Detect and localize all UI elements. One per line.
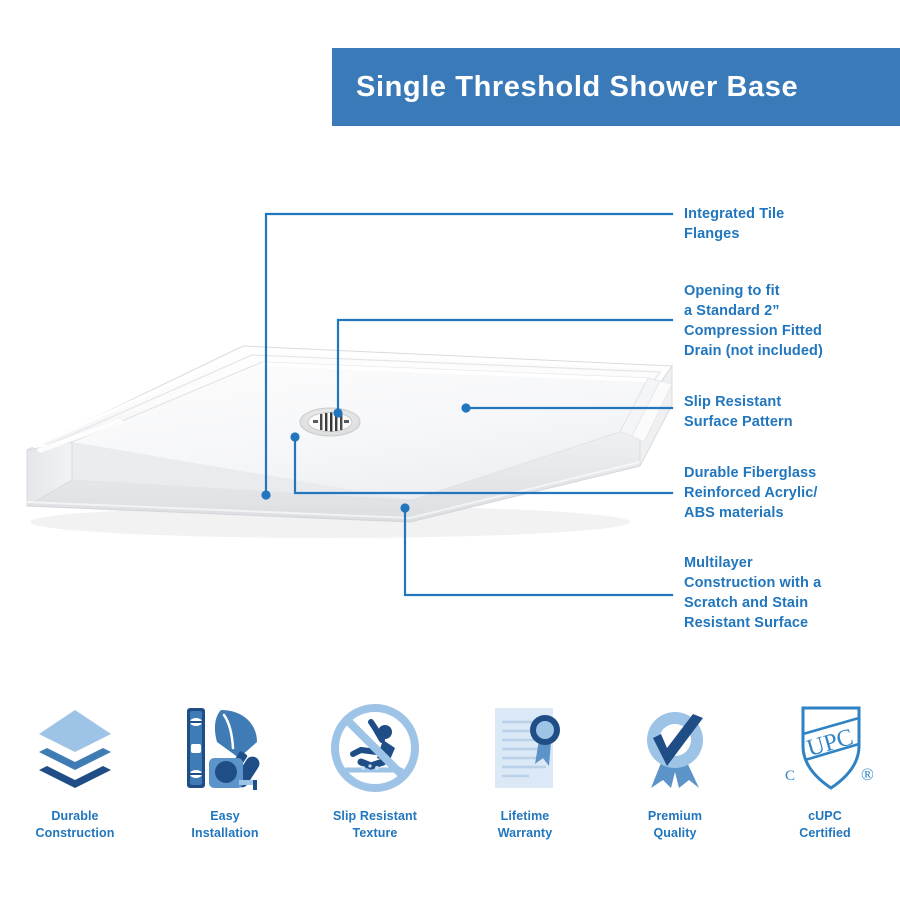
certificate-icon: [477, 700, 573, 796]
dot-opening-drain: [333, 408, 342, 417]
layers-icon: [27, 700, 123, 796]
callout-line: Slip Resistant: [684, 392, 793, 412]
feature-label: Premium Quality: [648, 808, 702, 841]
shield-left-mark: C: [785, 768, 795, 784]
feature-durable-construction: Durable Construction: [0, 700, 150, 875]
callout-multilayer-construction: Multilayer Construction with a Scratch a…: [684, 553, 821, 633]
no-slip-icon: [327, 700, 423, 796]
dot-slip-resistant: [461, 403, 470, 412]
feature-label: cUPC Certified: [799, 808, 851, 841]
header-banner: Single Threshold Shower Base: [332, 48, 900, 126]
feature-slip-resistant-texture: Slip Resistant Texture: [300, 700, 450, 875]
callout-line: Durable Fiberglass: [684, 463, 818, 483]
feature-label: Easy Installation: [191, 808, 258, 841]
feature-label: Slip Resistant Texture: [333, 808, 417, 841]
check-ribbon-icon: [627, 700, 723, 796]
callout-line: Opening to fit: [684, 281, 823, 301]
callout-line: Flanges: [684, 224, 784, 244]
feature-easy-installation: Easy Installation: [150, 700, 300, 875]
dot-durable-fiberglass: [290, 432, 299, 441]
callout-line: Resistant Surface: [684, 613, 821, 633]
page-title: Single Threshold Shower Base: [332, 71, 798, 104]
callout-line: Compression Fitted: [684, 321, 823, 341]
callout-slip-resistant: Slip Resistant Surface Pattern: [684, 392, 793, 432]
feature-label: Lifetime Warranty: [498, 808, 553, 841]
feature-cupc-certified: UPC C ® cUPC Certified: [750, 700, 900, 875]
dot-multilayer: [400, 503, 409, 512]
callout-line: a Standard 2”: [684, 301, 823, 321]
callout-integrated-tile-flanges: Integrated Tile Flanges: [684, 204, 784, 244]
callout-line: Surface Pattern: [684, 412, 793, 432]
callout-opening-drain: Opening to fit a Standard 2” Compression…: [684, 281, 823, 361]
feature-premium-quality: Premium Quality: [600, 700, 750, 875]
callout-line: Construction with a: [684, 573, 821, 593]
feature-label: Durable Construction: [36, 808, 115, 841]
level-trowel-icon: [177, 700, 273, 796]
callout-line: Multilayer: [684, 553, 821, 573]
callout-line: Scratch and Stain: [684, 593, 821, 613]
feature-lifetime-warranty: Lifetime Warranty: [450, 700, 600, 875]
infographic-page: Single Threshold Shower Base: [0, 0, 900, 900]
callout-durable-fiberglass: Durable Fiberglass Reinforced Acrylic/ A…: [684, 463, 818, 523]
shield-right-mark: ®: [861, 765, 873, 784]
upc-shield-icon: UPC C ®: [777, 700, 873, 796]
callout-line: Drain (not included): [684, 341, 823, 361]
callout-line: Integrated Tile: [684, 204, 784, 224]
dot-integrated-tile-flanges: [261, 490, 270, 499]
feature-strip: Durable Construction: [0, 700, 900, 875]
callout-line: Reinforced Acrylic/: [684, 483, 818, 503]
drain-assembly: [300, 408, 360, 436]
callout-line: ABS materials: [684, 503, 818, 523]
